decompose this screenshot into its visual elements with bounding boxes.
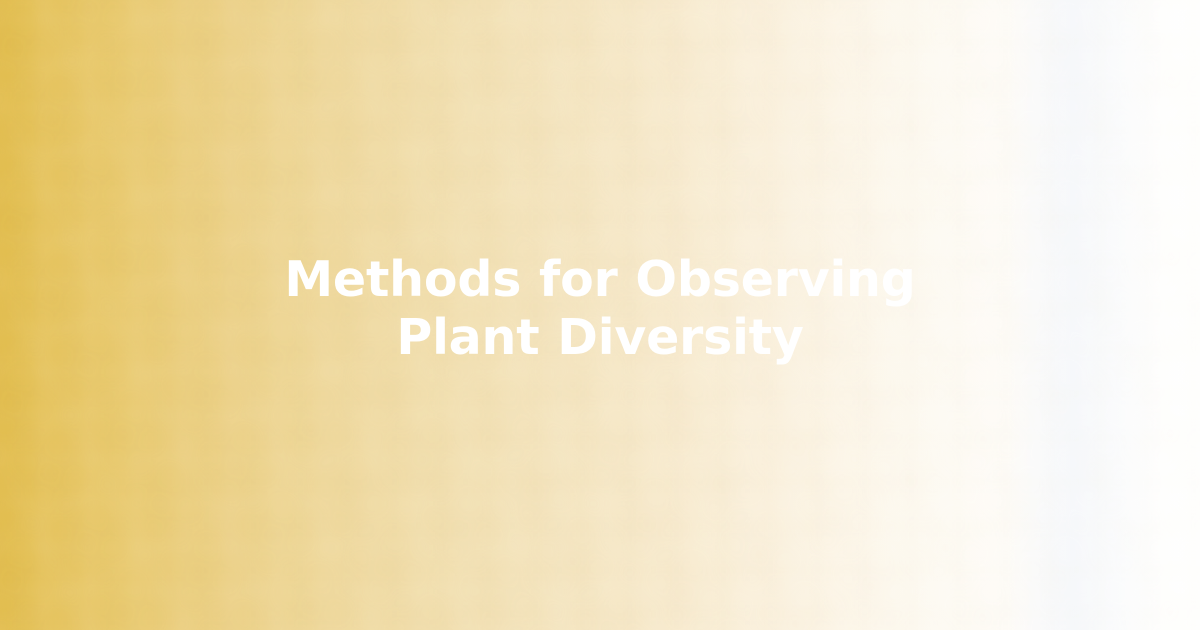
page-title: Methods for Observing Plant Diversity: [280, 251, 920, 367]
title-container: Methods for Observing Plant Diversity: [280, 251, 920, 367]
hero-banner: Methods for Observing Plant Diversity: [0, 0, 1200, 630]
